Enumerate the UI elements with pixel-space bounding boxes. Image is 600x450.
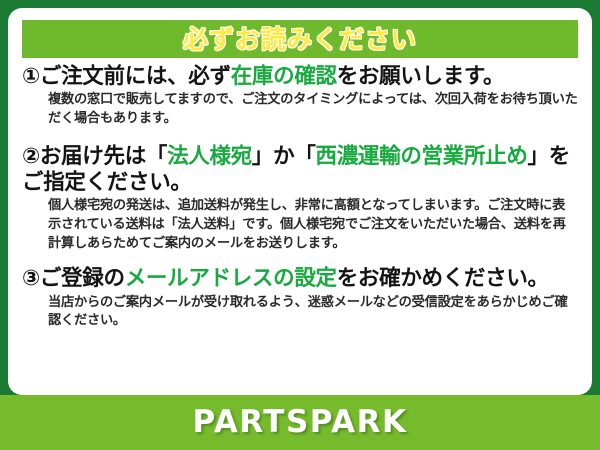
notice-item-3-heading-pre: ご登録の	[40, 266, 125, 291]
spacer-2	[22, 255, 578, 266]
notice-item-1: ①ご注文前には、必ず在庫の確認をお願いします。 複数の窓口で販売してますので、ご…	[22, 64, 578, 129]
notice-item-3-heading-highlight: メールアドレスの設定	[125, 266, 337, 291]
notice-item-1-heading: ①ご注文前には、必ず在庫の確認をお願いします。	[22, 64, 578, 90]
notice-item-1-heading-pre: ご注文前には、必ず	[40, 64, 231, 89]
notice-item-2-heading-mid: 」か「	[252, 144, 316, 169]
notice-item-3-marker: ③	[22, 266, 40, 291]
notice-item-2-heading-highlight: 法人様宛	[167, 144, 252, 169]
notice-item-2-heading-pre: お届け先は「	[40, 144, 167, 169]
notice-item-1-heading-post: をお願いします。	[337, 64, 504, 89]
notice-item-3-heading-post: をお確かめください。	[337, 266, 549, 291]
notice-item-2-heading: ②お届け先は「法人様宛」か「西濃運輸の営業所止め」をご指定ください。	[22, 144, 578, 196]
notice-item-2-marker: ②	[22, 144, 40, 169]
spacer-1	[22, 131, 578, 144]
header-banner: 必ずお読みください	[22, 20, 578, 58]
notice-item-1-marker: ①	[22, 64, 40, 89]
notice-item-2-heading-highlight-2: 西濃運輸の営業所止め	[316, 144, 528, 169]
notice-item-1-heading-highlight: 在庫の確認	[231, 64, 337, 89]
footer-bar: PARTSPARK	[0, 395, 600, 450]
partspark-logo: PARTSPARK	[192, 407, 407, 438]
notice-item-3: ③ご登録のメールアドレスの設定をお確かめください。 当店からのご案内メールが受け…	[22, 266, 578, 331]
header-banner-title: 必ずお読みください	[183, 27, 417, 52]
notice-item-2: ②お届け先は「法人様宛」か「西濃運輸の営業所止め」をご指定ください。 個人様宅宛…	[22, 144, 578, 254]
notice-banner-image: 必ずお読みください ①ご注文前には、必ず在庫の確認をお願いします。 複数の窓口で…	[0, 0, 600, 450]
notice-item-3-heading: ③ご登録のメールアドレスの設定をお確かめください。	[22, 266, 578, 292]
notice-card-inner: 必ずお読みください ①ご注文前には、必ず在庫の確認をお願いします。 複数の窓口で…	[8, 8, 592, 395]
notice-item-2-body: 個人様宅宛の発送は、追加送料が発生し、非常に高額となってしまいます。ご注文時に表…	[48, 197, 578, 253]
notice-card: 必ずお読みください ①ご注文前には、必ず在庫の確認をお願いします。 複数の窓口で…	[8, 8, 592, 395]
notice-item-1-body: 複数の窓口で販売してますので、ご注文のタイミングによっては、次回入荷をお待ち頂い…	[48, 91, 578, 128]
notice-item-3-body: 当店からのご案内メールが受け取れるよう、迷惑メールなどの受信設定をあらかじめご確…	[48, 294, 578, 331]
